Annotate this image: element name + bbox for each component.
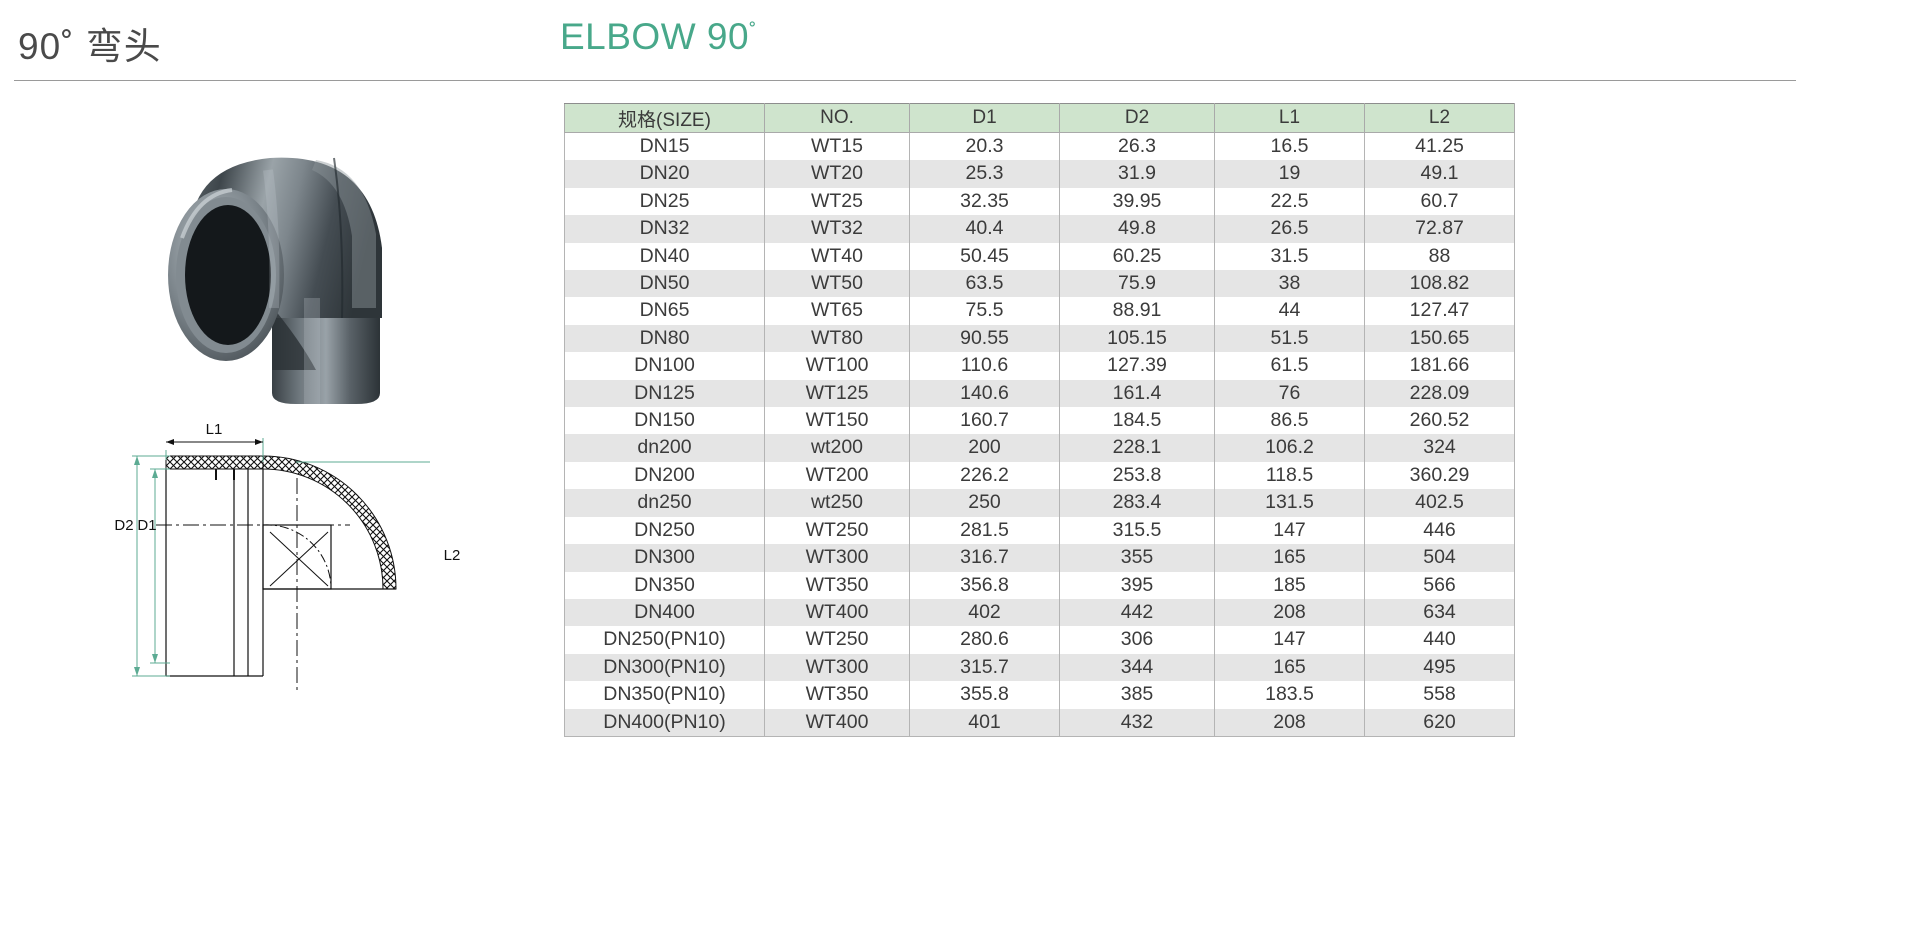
cell-size: DN20 xyxy=(565,160,765,187)
cell-d1: 90.55 xyxy=(910,325,1060,352)
cell-d1: 316.7 xyxy=(910,544,1060,571)
cell-l2: 260.52 xyxy=(1365,407,1515,434)
cell-l1: 76 xyxy=(1215,380,1365,407)
cell-d1: 40.4 xyxy=(910,215,1060,242)
cell-l1: 208 xyxy=(1215,709,1365,737)
table-row: DN20WT2025.331.91949.1 xyxy=(565,160,1515,187)
cell-no: WT25 xyxy=(765,188,910,215)
cell-l2: 402.5 xyxy=(1365,489,1515,516)
cell-l1: 26.5 xyxy=(1215,215,1365,242)
spec-table-body: DN15WT1520.326.316.541.25DN20WT2025.331.… xyxy=(565,133,1515,737)
cell-size: DN15 xyxy=(565,133,765,161)
cell-l2: 566 xyxy=(1365,572,1515,599)
cell-size: DN100 xyxy=(565,352,765,379)
cell-l1: 19 xyxy=(1215,160,1365,187)
cell-d1: 315.7 xyxy=(910,654,1060,681)
cell-l2: 41.25 xyxy=(1365,133,1515,161)
cell-no: WT100 xyxy=(765,352,910,379)
table-row: DN150WT150160.7184.586.5260.52 xyxy=(565,407,1515,434)
cell-size: DN80 xyxy=(565,325,765,352)
cell-d2: 432 xyxy=(1060,709,1215,737)
cell-l1: 131.5 xyxy=(1215,489,1365,516)
table-row: DN350(PN10)WT350355.8385183.5558 xyxy=(565,681,1515,708)
cell-l2: 440 xyxy=(1365,626,1515,653)
spec-table: 规格(SIZE) NO. D1 D2 L1 L2 DN15WT1520.326.… xyxy=(564,103,1515,737)
cell-d2: 395 xyxy=(1060,572,1215,599)
cell-l2: 495 xyxy=(1365,654,1515,681)
cell-no: WT15 xyxy=(765,133,910,161)
cell-l2: 181.66 xyxy=(1365,352,1515,379)
cell-l1: 61.5 xyxy=(1215,352,1365,379)
cell-l1: 38 xyxy=(1215,270,1365,297)
cell-d2: 88.91 xyxy=(1060,297,1215,324)
cell-d2: 184.5 xyxy=(1060,407,1215,434)
cell-l1: 185 xyxy=(1215,572,1365,599)
cell-d1: 63.5 xyxy=(910,270,1060,297)
cell-size: DN25 xyxy=(565,188,765,215)
cell-no: WT300 xyxy=(765,544,910,571)
cell-l2: 72.87 xyxy=(1365,215,1515,242)
cell-size: DN50 xyxy=(565,270,765,297)
cell-size: DN250(PN10) xyxy=(565,626,765,653)
cell-l2: 127.47 xyxy=(1365,297,1515,324)
cell-d1: 226.2 xyxy=(910,462,1060,489)
cell-no: wt250 xyxy=(765,489,910,516)
cell-d2: 344 xyxy=(1060,654,1215,681)
cell-d2: 31.9 xyxy=(1060,160,1215,187)
elbow-photo-illustration xyxy=(120,108,440,408)
drawing-label-l2: L2 xyxy=(444,547,461,564)
cell-l1: 16.5 xyxy=(1215,133,1365,161)
cell-no: WT250 xyxy=(765,626,910,653)
cell-d1: 356.8 xyxy=(910,572,1060,599)
cell-d1: 110.6 xyxy=(910,352,1060,379)
cell-l1: 183.5 xyxy=(1215,681,1365,708)
column-header-d1: D1 xyxy=(910,104,1060,133)
table-row: DN40WT4050.4560.2531.588 xyxy=(565,243,1515,270)
cell-d2: 49.8 xyxy=(1060,215,1215,242)
cell-l2: 360.29 xyxy=(1365,462,1515,489)
cell-no: WT125 xyxy=(765,380,910,407)
cell-no: WT350 xyxy=(765,681,910,708)
cell-no: WT20 xyxy=(765,160,910,187)
cell-l1: 44 xyxy=(1215,297,1365,324)
cell-l2: 228.09 xyxy=(1365,380,1515,407)
cell-d2: 306 xyxy=(1060,626,1215,653)
cell-d2: 39.95 xyxy=(1060,188,1215,215)
cell-size: DN350(PN10) xyxy=(565,681,765,708)
column-header-no: NO. xyxy=(765,104,910,133)
cell-no: WT50 xyxy=(765,270,910,297)
cell-size: DN150 xyxy=(565,407,765,434)
cell-d1: 25.3 xyxy=(910,160,1060,187)
cell-l2: 558 xyxy=(1365,681,1515,708)
table-row: DN50WT5063.575.938108.82 xyxy=(565,270,1515,297)
cell-size: DN40 xyxy=(565,243,765,270)
cell-l1: 31.5 xyxy=(1215,243,1365,270)
right-panel: ELBOW 90˚ 规格(SIZE) NO. D1 D2 L1 L2 xyxy=(690,0,1920,943)
table-row: DN32WT3240.449.826.572.87 xyxy=(565,215,1515,242)
table-row: DN65WT6575.588.9144127.47 xyxy=(565,297,1515,324)
technical-drawing: L1 D2 D1 L2 xyxy=(100,420,500,720)
cell-l2: 60.7 xyxy=(1365,188,1515,215)
cell-l2: 634 xyxy=(1365,599,1515,626)
table-row: DN250(PN10)WT250280.6306147440 xyxy=(565,626,1515,653)
cell-d2: 161.4 xyxy=(1060,380,1215,407)
cell-d1: 50.45 xyxy=(910,243,1060,270)
cell-l1: 147 xyxy=(1215,626,1365,653)
elbow-dimension-drawing: L1 D2 D1 L2 xyxy=(100,420,500,720)
table-row: DN250WT250281.5315.5147446 xyxy=(565,517,1515,544)
cell-l1: 208 xyxy=(1215,599,1365,626)
cell-d2: 75.9 xyxy=(1060,270,1215,297)
table-row: DN400WT400402442208634 xyxy=(565,599,1515,626)
cell-no: WT32 xyxy=(765,215,910,242)
cell-d1: 140.6 xyxy=(910,380,1060,407)
spec-table-head: 规格(SIZE) NO. D1 D2 L1 L2 xyxy=(565,104,1515,133)
cell-d1: 281.5 xyxy=(910,517,1060,544)
cell-d1: 355.8 xyxy=(910,681,1060,708)
cell-d2: 60.25 xyxy=(1060,243,1215,270)
cell-no: WT300 xyxy=(765,654,910,681)
cell-d2: 127.39 xyxy=(1060,352,1215,379)
cell-d1: 160.7 xyxy=(910,407,1060,434)
cell-no: WT80 xyxy=(765,325,910,352)
cell-l1: 22.5 xyxy=(1215,188,1365,215)
column-header-l1: L1 xyxy=(1215,104,1365,133)
cell-d1: 200 xyxy=(910,434,1060,461)
cell-l2: 108.82 xyxy=(1365,270,1515,297)
cell-l2: 446 xyxy=(1365,517,1515,544)
table-row: dn250wt250250283.4131.5402.5 xyxy=(565,489,1515,516)
product-photo xyxy=(120,108,440,408)
cell-no: WT400 xyxy=(765,709,910,737)
cell-no: WT400 xyxy=(765,599,910,626)
cell-no: WT150 xyxy=(765,407,910,434)
cell-l1: 165 xyxy=(1215,654,1365,681)
drawing-label-d2: D2 xyxy=(114,517,133,534)
table-row: DN25WT2532.3539.9522.560.7 xyxy=(565,188,1515,215)
cell-d2: 442 xyxy=(1060,599,1215,626)
cell-d1: 32.35 xyxy=(910,188,1060,215)
cell-l2: 504 xyxy=(1365,544,1515,571)
cell-d2: 105.15 xyxy=(1060,325,1215,352)
cell-d2: 315.5 xyxy=(1060,517,1215,544)
title-divider-right xyxy=(556,80,1796,81)
cell-d2: 283.4 xyxy=(1060,489,1215,516)
product-spec-page: 90˚ 弯头 xyxy=(0,0,1920,943)
table-row: DN300(PN10)WT300315.7344165495 xyxy=(565,654,1515,681)
cell-l1: 106.2 xyxy=(1215,434,1365,461)
cell-d2: 253.8 xyxy=(1060,462,1215,489)
page-title-chinese: 90˚ 弯头 xyxy=(18,16,162,70)
cell-size: DN400 xyxy=(565,599,765,626)
degree-symbol: ˚ xyxy=(749,19,757,44)
table-row: dn200wt200200228.1106.2324 xyxy=(565,434,1515,461)
cell-size: DN350 xyxy=(565,572,765,599)
cell-d1: 250 xyxy=(910,489,1060,516)
cell-d1: 20.3 xyxy=(910,133,1060,161)
column-header-d2: D2 xyxy=(1060,104,1215,133)
cell-no: WT250 xyxy=(765,517,910,544)
column-header-size: 规格(SIZE) xyxy=(565,104,765,133)
drawing-label-l1: L1 xyxy=(206,421,223,438)
page-title-english: ELBOW 90˚ xyxy=(560,16,757,58)
cell-d2: 228.1 xyxy=(1060,434,1215,461)
cell-d1: 402 xyxy=(910,599,1060,626)
cell-l1: 51.5 xyxy=(1215,325,1365,352)
cell-l2: 324 xyxy=(1365,434,1515,461)
cell-size: DN32 xyxy=(565,215,765,242)
cell-no: WT65 xyxy=(765,297,910,324)
table-row: DN400(PN10)WT400401432208620 xyxy=(565,709,1515,737)
cell-l1: 86.5 xyxy=(1215,407,1365,434)
cell-l2: 150.65 xyxy=(1365,325,1515,352)
spec-table-container: 规格(SIZE) NO. D1 D2 L1 L2 DN15WT1520.326.… xyxy=(564,103,1514,737)
cell-size: DN125 xyxy=(565,380,765,407)
cell-no: wt200 xyxy=(765,434,910,461)
cell-l2: 88 xyxy=(1365,243,1515,270)
table-row: DN80WT8090.55105.1551.5150.65 xyxy=(565,325,1515,352)
cell-size: DN250 xyxy=(565,517,765,544)
cell-no: WT200 xyxy=(765,462,910,489)
cell-d2: 385 xyxy=(1060,681,1215,708)
cell-d1: 75.5 xyxy=(910,297,1060,324)
cell-no: WT40 xyxy=(765,243,910,270)
cell-l2: 49.1 xyxy=(1365,160,1515,187)
cell-d2: 26.3 xyxy=(1060,133,1215,161)
cell-d1: 401 xyxy=(910,709,1060,737)
cell-size: dn200 xyxy=(565,434,765,461)
table-row: DN15WT1520.326.316.541.25 xyxy=(565,133,1515,161)
table-row: DN350WT350356.8395185566 xyxy=(565,572,1515,599)
drawing-label-d1: D1 xyxy=(137,517,156,534)
cell-l1: 165 xyxy=(1215,544,1365,571)
cell-size: DN400(PN10) xyxy=(565,709,765,737)
page-title-english-text: ELBOW 90 xyxy=(560,16,749,57)
table-row: DN125WT125140.6161.476228.09 xyxy=(565,380,1515,407)
cell-size: dn250 xyxy=(565,489,765,516)
cell-size: DN300(PN10) xyxy=(565,654,765,681)
cell-size: DN200 xyxy=(565,462,765,489)
column-header-l2: L2 xyxy=(1365,104,1515,133)
cell-l1: 118.5 xyxy=(1215,462,1365,489)
table-row: DN100WT100110.6127.3961.5181.66 xyxy=(565,352,1515,379)
cell-no: WT350 xyxy=(765,572,910,599)
table-row: DN300WT300316.7355165504 xyxy=(565,544,1515,571)
cell-size: DN65 xyxy=(565,297,765,324)
cell-l2: 620 xyxy=(1365,709,1515,737)
cell-l1: 147 xyxy=(1215,517,1365,544)
table-header-row: 规格(SIZE) NO. D1 D2 L1 L2 xyxy=(565,104,1515,133)
cell-d2: 355 xyxy=(1060,544,1215,571)
table-row: DN200WT200226.2253.8118.5360.29 xyxy=(565,462,1515,489)
cell-size: DN300 xyxy=(565,544,765,571)
cell-d1: 280.6 xyxy=(910,626,1060,653)
